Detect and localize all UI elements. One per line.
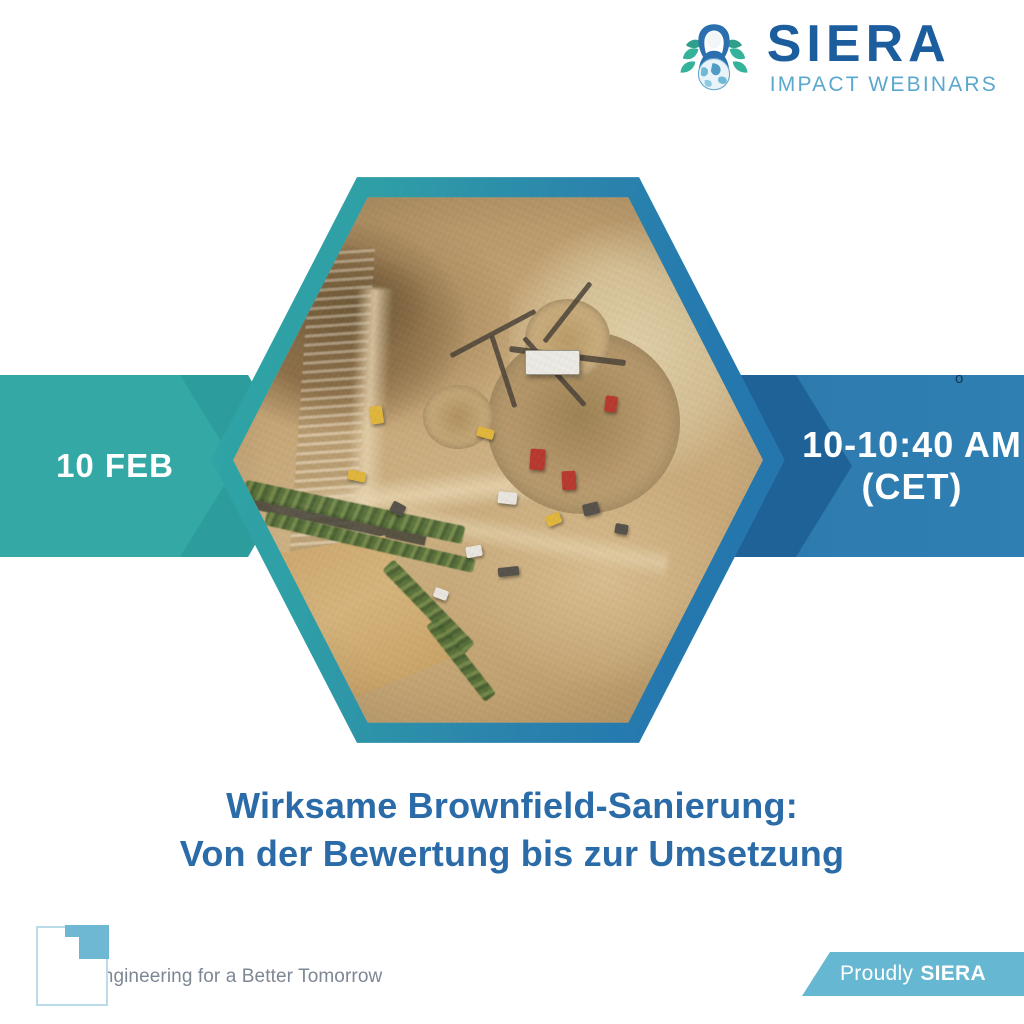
timezone-label: (CET): [862, 466, 963, 508]
time-label: 10-10:40 AM: [802, 424, 1022, 466]
badge-brand: SIERA: [920, 962, 986, 986]
hero-hexagon: [209, 172, 787, 748]
proudly-siera-badge: Proudly SIERA: [802, 952, 1024, 996]
time-label-group: 10-10:40 AM (CET): [800, 375, 1024, 557]
footer-tagline: Engineering for a Better Tomorrow: [90, 966, 382, 988]
title-line-1: Wirksame Brownfield-Sanierung:: [0, 782, 1024, 830]
square-corner-logo-icon: [36, 926, 108, 1006]
webinar-title: Wirksame Brownfield-Sanierung: Von der B…: [0, 782, 1024, 877]
stray-character-artifact: o: [955, 370, 963, 387]
brand-name: SIERA: [767, 19, 998, 70]
woman-globe-leaves-logo-icon: [675, 18, 753, 96]
date-label: 10 FEB: [0, 375, 230, 557]
title-line-2: Von der Bewertung bis zur Umsetzung: [0, 830, 1024, 878]
brand-subtitle: IMPACT WEBINARS: [770, 74, 998, 95]
siera-brand-logo: SIERA IMPACT WEBINARS: [675, 18, 998, 96]
badge-prefix: Proudly: [840, 962, 913, 986]
webinar-promo-card: SIERA IMPACT WEBINARS 10 FEB 10-10:40 AM…: [0, 0, 1024, 1024]
footer-brand: Engineering for a Better Tomorrow: [36, 922, 382, 1006]
